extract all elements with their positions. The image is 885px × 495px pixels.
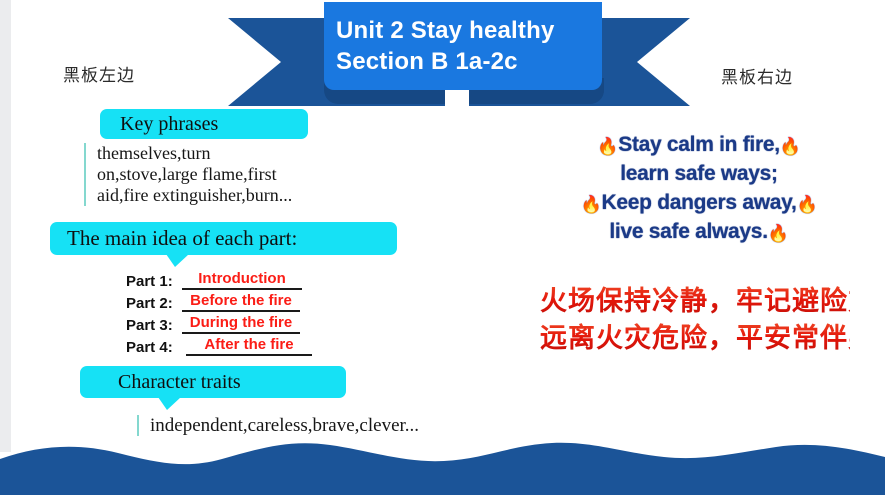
callout-key-phrases: Key phrases <box>100 109 308 139</box>
flame-icon: 🔥 <box>796 196 817 213</box>
callout-tail-icon <box>158 397 181 410</box>
couplet-line: 远离火灾危险，平安常伴身旁。 <box>540 320 850 357</box>
callout-main-idea-label: The main idea of each part: <box>67 226 297 251</box>
callout-character-traits-label: Character traits <box>118 371 241 394</box>
slogan-row-3: 🔥Keep dangers away,🔥 <box>560 188 838 217</box>
part-label: Part 4: <box>126 339 182 356</box>
parts-list: Part 1: Introduction Part 2: Before the … <box>126 270 312 358</box>
fire-safety-slogan: 🔥Stay calm in fire,🔥 learn safe ways; 🔥K… <box>560 130 838 246</box>
slogan-line-text: Stay calm in fire, <box>618 133 780 156</box>
slide-canvas: Unit 2 Stay healthy Section B 1a-2c 黑板左边… <box>0 0 885 495</box>
part-row: Part 4: After the fire <box>126 336 312 356</box>
label-blackboard-left: 黑板左边 <box>63 61 135 86</box>
part-row: Part 1: Introduction <box>126 270 312 290</box>
part-label: Part 1: <box>126 273 182 290</box>
title-card: Unit 2 Stay healthy Section B 1a-2c <box>324 2 602 90</box>
flame-icon: 🔥 <box>780 138 801 155</box>
slogan-line-text: live safe always. <box>609 220 767 243</box>
slogan-row-4: live safe always.🔥 <box>560 217 838 246</box>
bottom-wave-decoration <box>0 437 885 495</box>
part-label: Part 3: <box>126 317 182 334</box>
callout-key-phrases-label: Key phrases <box>120 113 218 136</box>
part-answer: After the fire <box>186 336 312 356</box>
character-traits-line: independent,careless,brave,clever... <box>150 415 540 436</box>
part-label: Part 2: <box>126 295 182 312</box>
part-answer: Before the fire <box>182 292 300 312</box>
key-phrases-line: themselves,turn <box>97 143 377 164</box>
part-answer: During the fire <box>182 314 300 334</box>
character-traits-body: independent,careless,brave,clever... <box>137 415 540 436</box>
chinese-couplet: 火场保持冷静，牢记避险方法； 远离火灾危险，平安常伴身旁。 <box>540 283 850 357</box>
flame-icon: 🔥 <box>597 138 618 155</box>
callout-character-traits: Character traits <box>80 366 346 398</box>
label-blackboard-right: 黑板右边 <box>721 63 793 88</box>
callout-tail-icon <box>166 254 189 267</box>
slogan-line-text: Keep dangers away, <box>602 191 797 214</box>
part-answer: Introduction <box>182 270 302 290</box>
couplet-line: 火场保持冷静，牢记避险方法； <box>540 283 850 320</box>
callout-main-idea: The main idea of each part: <box>50 222 397 255</box>
part-row: Part 3: During the fire <box>126 314 312 334</box>
page-edge-strip <box>0 0 11 452</box>
flame-icon: 🔥 <box>581 196 602 213</box>
slogan-row-1: 🔥Stay calm in fire,🔥 <box>560 130 838 159</box>
title-ribbon: Unit 2 Stay healthy Section B 1a-2c <box>228 18 690 106</box>
title-line-2: Section B 1a-2c <box>336 46 602 77</box>
slogan-line-text: learn safe ways; <box>620 162 777 185</box>
title-line-1: Unit 2 Stay healthy <box>336 15 602 46</box>
part-row: Part 2: Before the fire <box>126 292 312 312</box>
key-phrases-line: on,stove,large flame,first <box>97 164 377 185</box>
key-phrases-body: themselves,turn on,stove,large flame,fir… <box>84 143 377 206</box>
key-phrases-line: aid,fire extinguisher,burn... <box>97 185 377 206</box>
slogan-row-2: learn safe ways; <box>560 159 838 188</box>
flame-icon: 🔥 <box>768 225 789 242</box>
